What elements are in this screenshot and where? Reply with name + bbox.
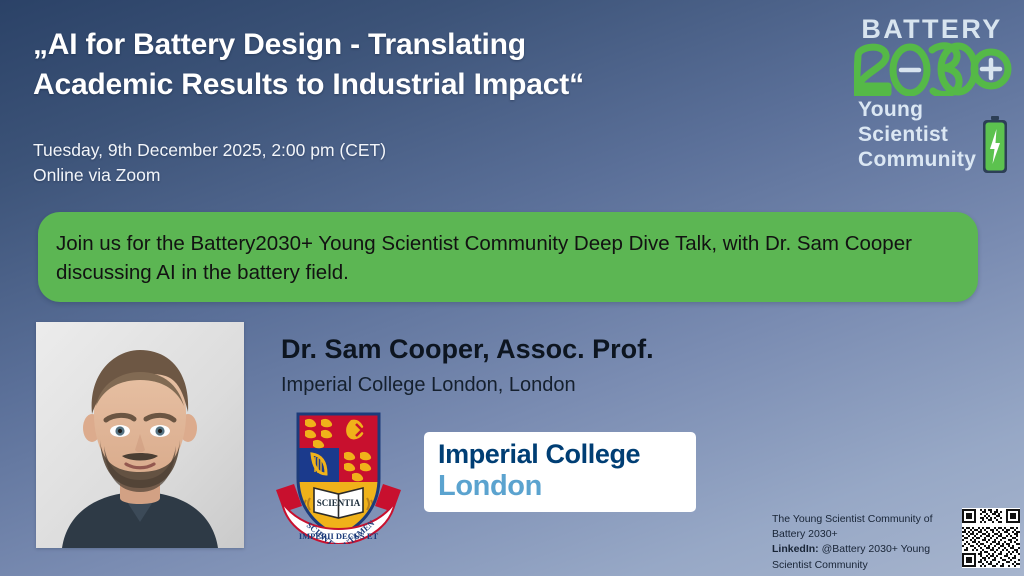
logo-tagline-community: Community — [858, 148, 986, 173]
footer-linkedin-line: LinkedIn: @Battery 2030+ Young — [772, 542, 954, 557]
footer-linkedin-handle: @Battery 2030+ Young — [819, 543, 930, 555]
logo-2030-plus-icon — [854, 42, 1012, 96]
event-location: Online via Zoom — [33, 163, 593, 188]
qr-code[interactable] — [962, 508, 1020, 568]
battery2030-ysc-logo: BATTERY Young Scientist Community — [852, 16, 1014, 188]
logo-tagline: Young Scientist Community — [858, 98, 986, 172]
battery-bolt-icon — [982, 116, 1008, 174]
page-title: „AI for Battery Design - Translating Aca… — [33, 25, 733, 105]
title-line-2: Academic Results to Industrial Impact“ — [33, 65, 733, 105]
imperial-college-wordmark: Imperial College London — [424, 432, 696, 512]
announcement-banner: Join us for the Battery2030+ Young Scien… — [38, 212, 978, 302]
speaker-name: Dr. Sam Cooper, Assoc. Prof. — [281, 335, 841, 365]
speaker-photo — [36, 322, 244, 548]
logo-tagline-young: Young — [858, 98, 986, 123]
footer-line-4: Scientist Community — [772, 558, 954, 573]
footer-line-2: Battery 2030+ — [772, 527, 954, 542]
presentation-slide: „AI for Battery Design - Translating Aca… — [0, 0, 1024, 576]
event-details: Tuesday, 9th December 2025, 2:00 pm (CET… — [33, 138, 593, 189]
logo-battery-wordmark: BATTERY — [856, 16, 1008, 43]
crest-book-motto: SCIENTIA — [317, 498, 361, 508]
title-line-1: „AI for Battery Design - Translating — [33, 25, 733, 65]
footer-contact-block: The Young Scientist Community of Battery… — [772, 512, 954, 573]
footer-linkedin-label: LinkedIn: — [772, 543, 819, 555]
imperial-wordmark-line-2: London — [438, 472, 542, 501]
logo-tagline-scientist: Scientist — [858, 123, 986, 148]
imperial-wordmark-line-1: Imperial College — [438, 441, 640, 468]
event-date: Tuesday, 9th December 2025, 2:00 pm (CET… — [33, 138, 593, 163]
footer-line-1: The Young Scientist Community of — [772, 512, 954, 527]
imperial-crest-icon: SCIENTIA SCIENTIA IMPERII DECUS ET TUTAM… — [272, 406, 405, 544]
announcement-banner-text: Join us for the Battery2030+ Young Scien… — [56, 229, 962, 287]
speaker-affiliation: Imperial College London, London — [281, 373, 841, 397]
